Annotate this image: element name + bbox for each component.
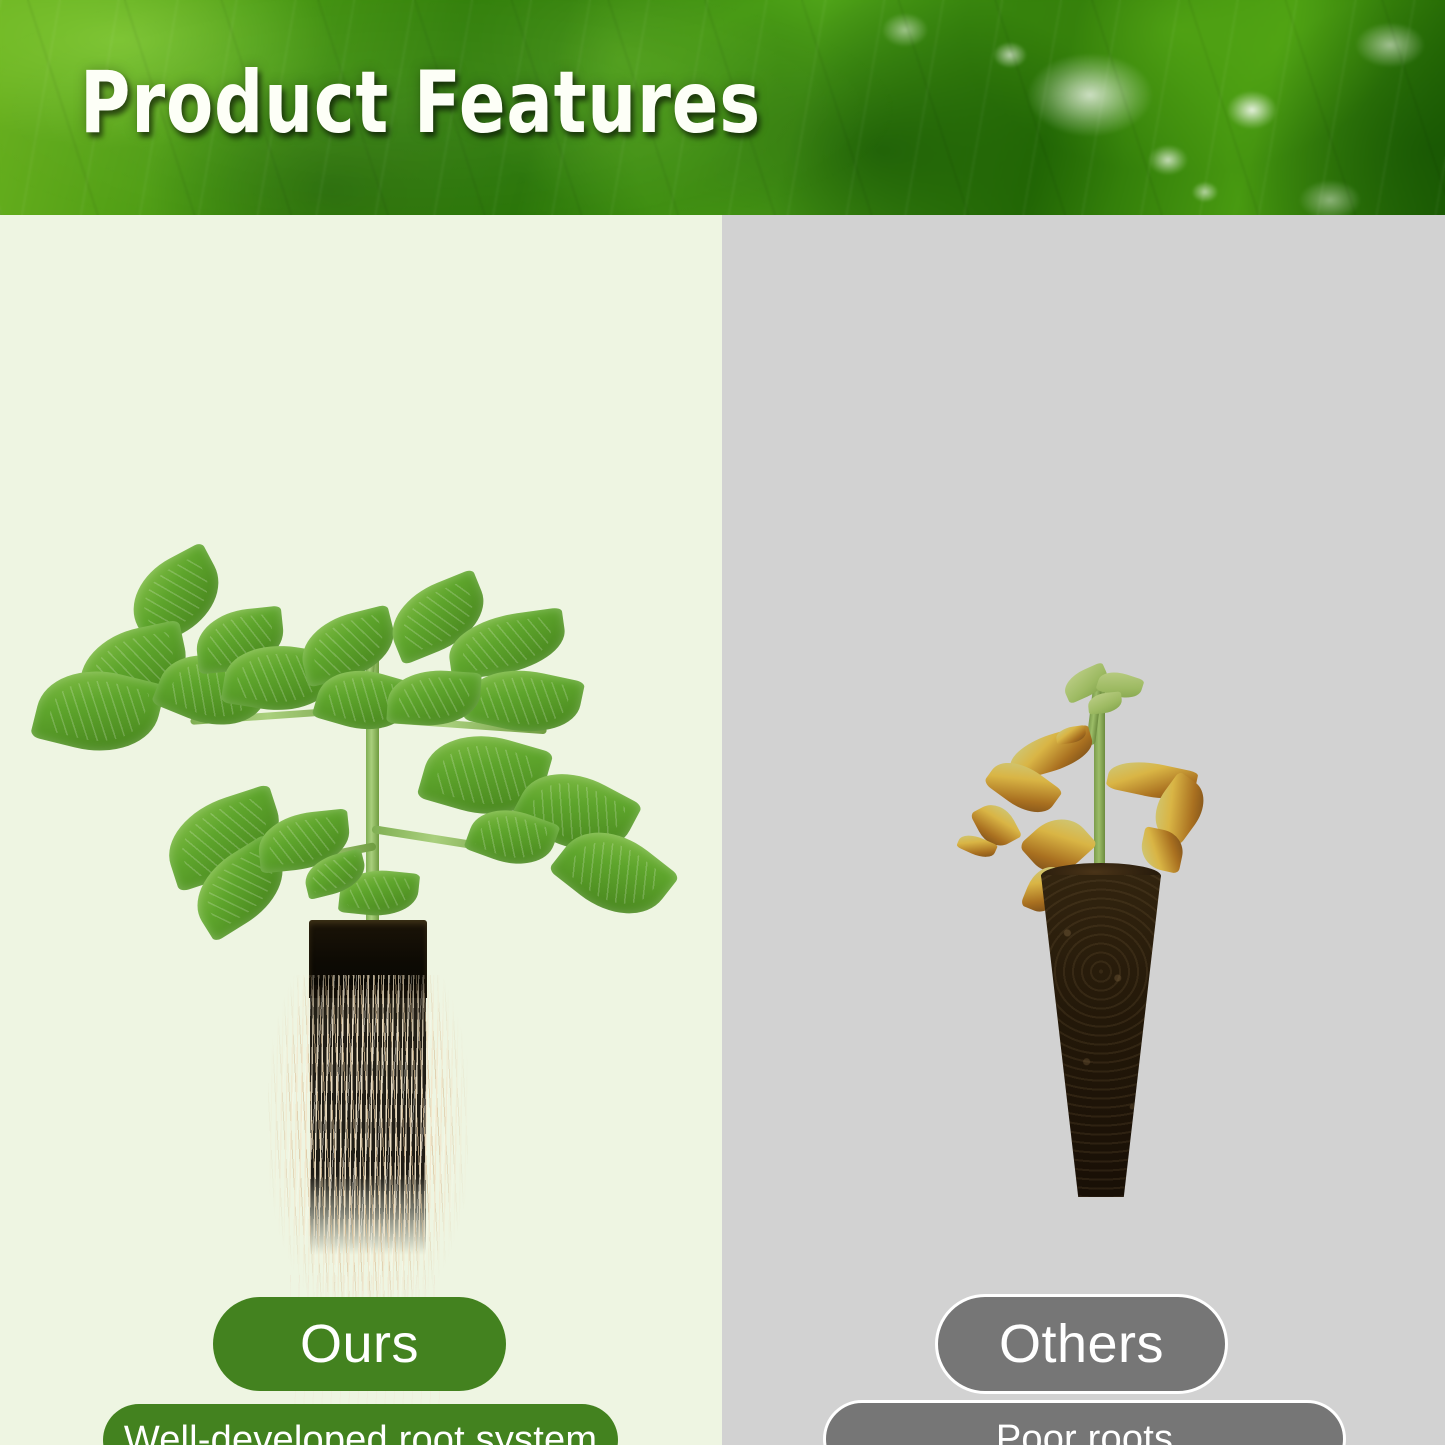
healthy-plant-image	[0, 215, 722, 1445]
ours-title-pill[interactable]: Ours	[213, 1297, 506, 1391]
wilted-plant-image	[722, 215, 1445, 1445]
others-title-label: Others	[999, 1313, 1164, 1375]
others-panel	[722, 215, 1445, 1445]
others-feature-pill-1[interactable]: Poor roots	[823, 1400, 1346, 1445]
others-title-pill[interactable]: Others	[935, 1294, 1228, 1394]
wilted-plant-layer	[722, 215, 1445, 1445]
product-features-comparison-page: Product Features	[0, 0, 1445, 1445]
soil-plug	[1041, 875, 1161, 1197]
ours-feature-pill-1[interactable]: Well-developed root system	[103, 1404, 618, 1445]
ours-feature-label-1: Well-developed root system	[124, 1419, 597, 1445]
ours-title-label: Ours	[300, 1313, 419, 1375]
header-banner: Product Features	[0, 0, 1445, 215]
page-title: Product Features	[80, 60, 761, 146]
ours-panel	[0, 215, 722, 1445]
others-feature-label-1: Poor roots	[996, 1418, 1173, 1445]
comparison-panels	[0, 215, 1445, 1445]
